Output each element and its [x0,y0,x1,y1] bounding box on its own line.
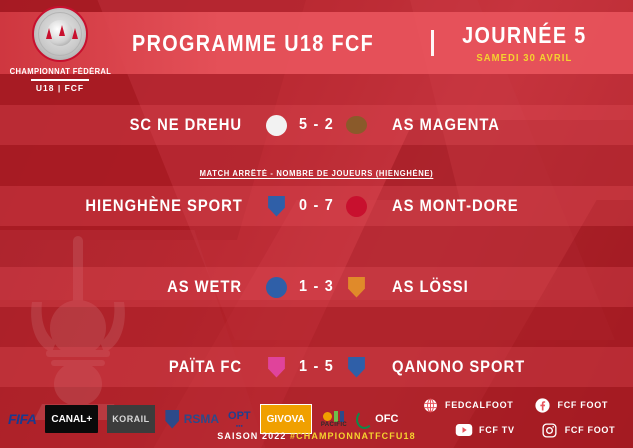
match-row[interactable]: PAÏTA FC1 - 5QANONO SPORT [0,347,633,387]
sponsor-givova: GIVOVA [260,404,312,434]
home-team-name: PAÏTA FC [85,357,242,377]
category-label: U18 | FCF [36,83,84,93]
competition-label: CHAMPIONNAT FÉDÉRAL [9,67,111,76]
away-team-name: QANONO SPORT [392,357,549,377]
match-row[interactable]: AS WETR1 - 3AS LÖSSI [0,267,633,307]
kanak-finial-watermark [18,232,138,422]
rsma-badge-icon [164,410,181,429]
social-website[interactable]: FEDCALFOOT [421,396,514,414]
as-magenta-crest [346,115,367,136]
match-row[interactable]: HIENGHÈNE SPORT0 - 7AS MONT-DORE [0,186,633,226]
globe-icon [421,396,439,414]
as-lossi-crest [346,277,367,298]
match-score: 1 - 3 [299,278,334,296]
ofc-arc-icon [356,410,373,429]
away-team-name: AS MAGENTA [392,115,549,135]
hienghene-sport-crest [266,196,287,217]
home-team-name: AS WETR [85,277,242,297]
title-separator [431,30,434,56]
sponsor-pacific: PACIFIC [321,408,347,430]
home-team-name: SC NE DREHU [85,115,242,135]
sponsor-korail: KORAIL [107,405,155,433]
sponsor-opt: OPT ●●● [228,408,251,430]
match-center: 1 - 5 [242,357,392,378]
social-handle: FEDCALFOOT [445,400,514,410]
sponsor-rsma: RSMA [164,408,219,430]
home-team-name: HIENGHÈNE SPORT [85,196,242,216]
matchday-label: JOURNÉE 5 [462,22,587,49]
logo-divider [31,79,89,81]
federation-crest-icon [32,6,88,62]
match-row[interactable]: SC NE DREHU5 - 2AS MAGENTA [0,105,633,145]
federation-logo: CHAMPIONNAT FÉDÉRAL U18 | FCF [12,6,108,98]
poster: PROGRAMME U18 FCF JOURNÉE 5 SAMEDI 30 AV… [0,0,633,448]
page-title: PROGRAMME U18 FCF [132,30,374,57]
hashtag-label: #CHAMPIONNATFCFU18 [290,431,416,441]
facebook-icon [534,396,552,414]
match-note: MATCH ARRÊTÉ - NOMBRE DE JOUEURS (HIENGH… [16,169,617,178]
sponsor-ofc: OFC [356,408,398,430]
match-date: SAMEDI 30 AVRIL [477,52,573,64]
match-score: 1 - 5 [299,358,334,376]
qanono-sport-crest [346,357,367,378]
sponsor-canal: CANAL+ [45,405,98,433]
season-label: SAISON 2022 [217,431,286,441]
match-center: 1 - 3 [242,277,392,298]
away-team-name: AS MONT-DORE [392,196,549,216]
as-wetr-crest [266,277,287,298]
match-center: 0 - 7 [242,196,392,217]
social-handle: FCF FOOT [558,400,609,410]
sc-ne-drehu-crest [266,115,287,136]
match-score: 0 - 7 [299,197,334,215]
paita-fc-crest [266,357,287,378]
away-team-name: AS LÖSSI [392,277,549,297]
sponsor-fifa: FIFA [8,408,36,430]
match-center: 5 - 2 [242,115,392,136]
as-mont-dore-crest [346,196,367,217]
match-score: 5 - 2 [299,116,334,134]
social-facebook[interactable]: FCF FOOT [534,396,609,414]
footer-tagline: SAISON 2022 #CHAMPIONNATFCFU18 [0,431,633,441]
